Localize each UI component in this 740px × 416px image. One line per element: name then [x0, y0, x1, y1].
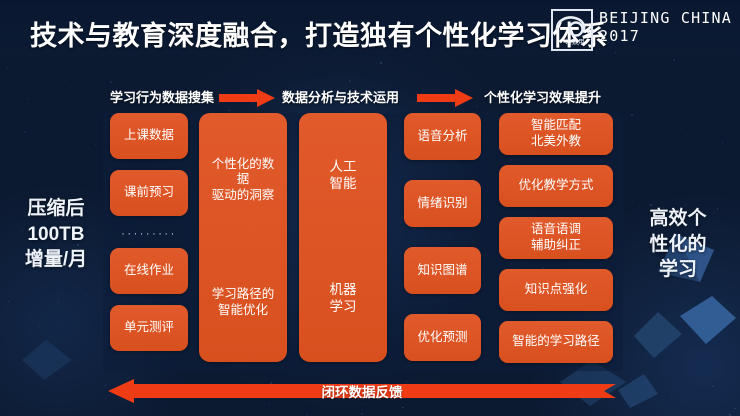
card-col5-3-line1: 语音语调 [531, 222, 581, 238]
svg-text:以致用: 以致用 [565, 37, 585, 46]
decorative-polygon-4 [12, 330, 92, 386]
card-col1-1[interactable]: 上课数据 [110, 113, 188, 159]
card-col4-1[interactable]: 语音分析 [404, 113, 481, 160]
column-tech-capabilities: 语音分析 情绪识别 知识图谱 优化预测 [404, 113, 481, 361]
card-col5-2[interactable]: 优化教学方式 [499, 165, 613, 207]
column-ai: 人工 智能 机器 学习 [299, 113, 387, 362]
card-col5-1[interactable]: 智能匹配 北美外教 [499, 113, 613, 155]
svg-text:110: 110 [582, 27, 591, 35]
card-col2-bottom-line1: 学习路径的 [212, 287, 275, 303]
feedback-loop-arrow: 闭环数据反馈 [108, 378, 616, 404]
card-col2-tall[interactable]: 个性化的数据 驱动的洞察 学习路径的 智能优化 [199, 113, 287, 362]
logo-line-year: 2017 [599, 28, 732, 46]
event-logo-text: BEIJING CHINA 2017 [599, 9, 732, 45]
logo-line-city: BEIJING CHINA [599, 10, 732, 28]
event-logo: 110 以致用 BEIJING CHINA 2017 [551, 9, 732, 51]
card-col5-3-text: 语音语调 辅助纠正 [531, 222, 581, 253]
side-text-right: 高效个 性化的 学习 [628, 206, 728, 283]
page-title: 技术与教育深度融合，打造独有个性化学习体系 [30, 14, 608, 53]
card-col3-tall[interactable]: 人工 智能 机器 学习 [299, 113, 387, 362]
side-text-left: 压缩后 100TB 增量/月 [12, 196, 100, 273]
card-col5-1-line1: 智能匹配 [531, 118, 581, 134]
card-col2-top-text: 个性化的数据 驱动的洞察 [203, 157, 283, 204]
card-col3-top-text: 人工 智能 [324, 159, 363, 193]
ellipsis-indicator: ········· [110, 227, 188, 240]
card-col4-2[interactable]: 情绪识别 [404, 180, 481, 227]
side-right-line2: 性化的 [628, 232, 728, 258]
card-col4-3[interactable]: 知识图谱 [404, 247, 481, 294]
card-col5-5[interactable]: 智能的学习路径 [499, 321, 613, 363]
card-col5-1-line2: 北美外教 [531, 134, 581, 150]
card-col3-bottom-text: 机器 学习 [324, 282, 363, 316]
card-col4-4[interactable]: 优化预测 [404, 314, 481, 361]
side-right-line3: 学习 [628, 257, 728, 283]
decorative-polygon-2 [676, 292, 740, 352]
column-insights: 个性化的数据 驱动的洞察 学习路径的 智能优化 [199, 113, 287, 362]
circle-swoosh-logo-icon: 110 以致用 [551, 9, 593, 51]
stage-label-1: 学习行为数据搜集 [110, 87, 214, 106]
side-left-line2: 100TB [12, 222, 100, 248]
feedback-loop-label: 闭环数据反馈 [108, 378, 616, 404]
stage-label-2: 数据分析与技术运用 [282, 87, 399, 106]
card-col1-2[interactable]: 课前预习 [110, 170, 188, 216]
stage-label-3: 个性化学习效果提升 [484, 87, 601, 106]
card-col2-top-line2: 驱动的洞察 [209, 188, 277, 204]
column-data-collection: 上课数据 课前预习 ········· 在线作业 单元测评 [110, 113, 188, 362]
side-right-line1: 高效个 [628, 206, 728, 232]
card-col5-3-line2: 辅助纠正 [531, 238, 581, 254]
decorative-polygon-3 [628, 306, 688, 364]
card-col1-3[interactable]: 在线作业 [110, 248, 188, 294]
card-col5-4[interactable]: 知识点强化 [499, 269, 613, 311]
card-col3-bottom-line1: 机器 [330, 282, 357, 299]
card-col5-3[interactable]: 语音语调 辅助纠正 [499, 217, 613, 259]
card-col3-top-line1: 人工 [330, 159, 357, 176]
flow-arrow-1-icon [219, 89, 275, 107]
flow-arrow-2-icon [417, 89, 473, 107]
card-col2-top-line1: 个性化的数据 [209, 157, 277, 188]
card-col5-1-text: 智能匹配 北美外教 [531, 118, 581, 149]
side-left-line1: 压缩后 [12, 196, 100, 222]
card-col1-4[interactable]: 单元测评 [110, 305, 188, 351]
side-left-line3: 增量/月 [12, 247, 100, 273]
card-col3-bottom-line2: 学习 [330, 299, 357, 316]
card-col3-top-line2: 智能 [330, 176, 357, 193]
card-col2-bottom-text: 学习路径的 智能优化 [206, 287, 281, 318]
column-outcomes: 智能匹配 北美外教 优化教学方式 语音语调 辅助纠正 知识点强化 智能的学习路径 [499, 113, 613, 363]
card-col2-bottom-line2: 智能优化 [212, 303, 275, 319]
slide-canvas: 技术与教育深度融合，打造独有个性化学习体系 110 以致用 BEIJING CH… [0, 0, 740, 416]
